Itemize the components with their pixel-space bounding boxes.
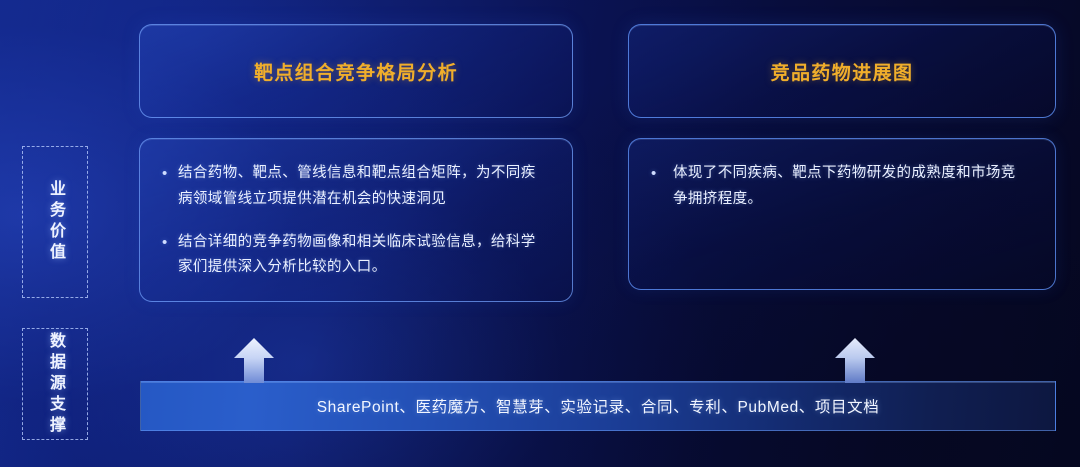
card-body-1: • 结合药物、靶点、管线信息和靶点组合矩阵，为不同疾病领域管线立项提供潜在机会的… (139, 138, 573, 302)
bullet-dot-icon: • (162, 161, 178, 188)
bullet-list-2: • 体现了不同疾病、靶点下药物研发的成熟度和市场竞争拥挤程度。 (651, 161, 1029, 213)
card-title-1-text: 靶点组合竞争格局分析 (254, 58, 458, 85)
slide-canvas: 业务价值 数据源支撑 靶点组合竞争格局分析 • 结合药物、靶点、管线信息和靶点组… (0, 0, 1080, 467)
column-target-combination-analysis: 靶点组合竞争格局分析 • 结合药物、靶点、管线信息和靶点组合矩阵，为不同疾病领域… (139, 24, 573, 302)
bullet-text: 结合详细的竞争药物画像和相关临床试验信息，给科学家们提供深入分析比较的入口。 (178, 230, 546, 282)
list-item: • 结合详细的竞争药物画像和相关临床试验信息，给科学家们提供深入分析比较的入口。 (162, 230, 546, 282)
arrow-up-right-icon (834, 336, 876, 384)
bullet-dot-icon: • (651, 161, 673, 188)
rail-box-data-source-support: 数据源支撑 (22, 328, 88, 440)
list-item: • 体现了不同疾病、靶点下药物研发的成熟度和市场竞争拥挤程度。 (651, 161, 1029, 213)
list-item: • 结合药物、靶点、管线信息和靶点组合矩阵，为不同疾病领域管线立项提供潜在机会的… (162, 161, 546, 213)
column-competitor-drug-progress: 竞品药物进展图 • 体现了不同疾病、靶点下药物研发的成熟度和市场竞争拥挤程度。 (628, 24, 1056, 290)
data-source-bar[interactable]: SharePoint、医药魔方、智慧芽、实验记录、合同、专利、PubMed、项目… (140, 381, 1056, 431)
arrow-up-left-icon (233, 336, 275, 384)
rail-box-business-value: 业务价值 (22, 146, 88, 298)
side-rail: 业务价值 数据源支撑 (22, 146, 88, 440)
card-body-2: • 体现了不同疾病、靶点下药物研发的成熟度和市场竞争拥挤程度。 (628, 138, 1056, 290)
card-title-1[interactable]: 靶点组合竞争格局分析 (139, 24, 573, 118)
card-title-2-text: 竞品药物进展图 (771, 58, 914, 85)
bullet-dot-icon: • (162, 230, 178, 257)
rail-label-business-value: 业务价值 (47, 180, 63, 264)
bullet-text: 体现了不同疾病、靶点下药物研发的成熟度和市场竞争拥挤程度。 (673, 161, 1029, 213)
card-title-2[interactable]: 竞品药物进展图 (628, 24, 1056, 118)
rail-label-data-source-support: 数据源支撑 (47, 332, 63, 437)
bullet-text: 结合药物、靶点、管线信息和靶点组合矩阵，为不同疾病领域管线立项提供潜在机会的快速… (178, 161, 546, 213)
data-source-bar-label: SharePoint、医药魔方、智慧芽、实验记录、合同、专利、PubMed、项目… (317, 395, 880, 417)
bullet-list-1: • 结合药物、靶点、管线信息和靶点组合矩阵，为不同疾病领域管线立项提供潜在机会的… (162, 161, 546, 281)
